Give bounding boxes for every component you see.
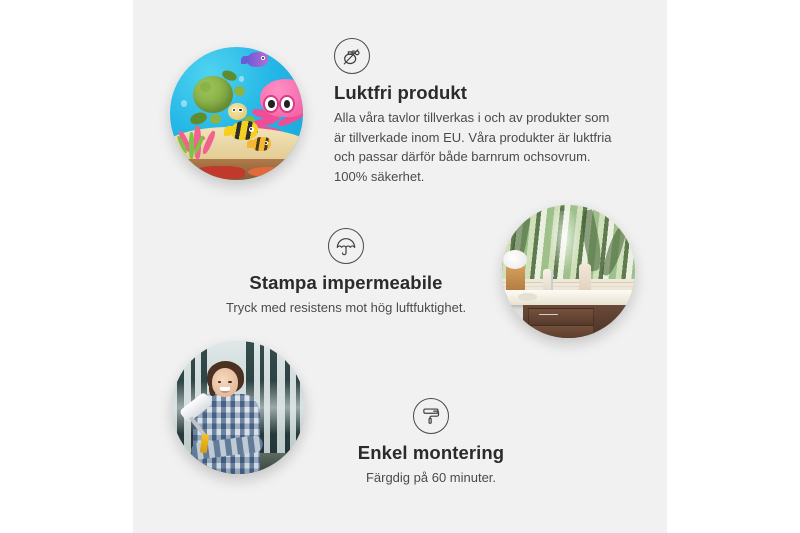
feature-body: Tryck med resistens mot hög luftfuktighe… — [215, 298, 477, 318]
eye — [218, 381, 221, 383]
feature-title: Stampa impermeabile — [215, 272, 477, 294]
sea-floor — [170, 159, 303, 180]
bubble-icon — [181, 100, 188, 107]
screenshot-root: Luktfri produkt Alla våra tavlor tillver… — [0, 0, 800, 533]
coral-green-icon — [175, 124, 210, 159]
bathroom-scene — [502, 205, 635, 338]
feature-body: Färgdig på 60 minuter. — [326, 468, 536, 488]
medallion-bathroom-wallpaper[interactable] — [502, 205, 635, 338]
fish-icon — [252, 137, 271, 150]
feature-block-waterproof: Stampa impermeabile Tryck med resistens … — [215, 228, 477, 318]
face — [212, 368, 239, 397]
feature-block-easy-install: Enkel montering Färgdig på 60 minuter. — [326, 398, 536, 488]
feature-title: Enkel montering — [326, 442, 536, 464]
medallion-underwater-cartoon[interactable] — [170, 47, 303, 180]
no-odor-spray-bottle-icon — [334, 38, 370, 74]
medallion-painter-forest[interactable] — [172, 341, 305, 474]
umbrella-icon — [328, 228, 364, 264]
underwater-scene — [170, 47, 303, 180]
eye — [228, 381, 231, 383]
turtle-icon — [189, 74, 245, 122]
forest-scene — [172, 341, 305, 474]
feature-block-odorless: Luktfri produkt Alla våra tavlor tillver… — [334, 38, 624, 186]
paint-roller-icon — [413, 398, 449, 434]
feature-title: Luktfri produkt — [334, 82, 624, 104]
feature-body: Alla våra tavlor tillverkas i och av pro… — [334, 108, 624, 186]
vanity-cabinet — [523, 305, 635, 338]
fish-icon — [247, 52, 268, 67]
soap-dish-icon — [518, 293, 537, 301]
smile — [220, 387, 230, 393]
flower-icon — [503, 250, 527, 269]
